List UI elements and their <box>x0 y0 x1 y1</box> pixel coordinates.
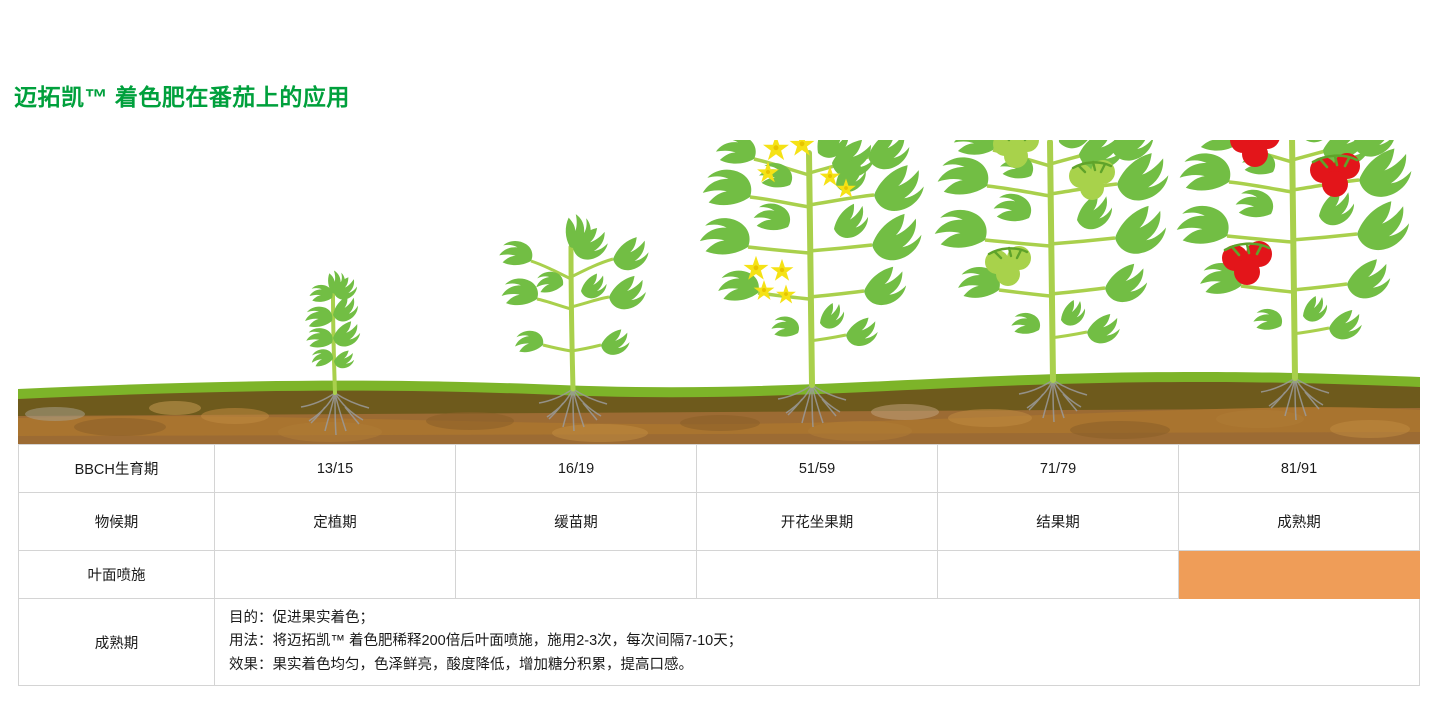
growth-stage-table: BBCH生育期 13/15 16/19 51/59 71/79 81/91 物候… <box>18 444 1420 686</box>
desc-usage: 用法：将迈拓凯™ 着色肥稀释200倍后叶面喷施，施用2-3次，每次间隔7-10天… <box>229 630 1419 653</box>
row-label-foliar-spray: 叶面喷施 <box>19 551 215 599</box>
page-root: 迈拓凯™ 着色肥在番茄上的应用 <box>0 0 1440 722</box>
cell-pheno-1: 定植期 <box>215 493 456 551</box>
usage-description: 目的：促进果实着色； 用法：将迈拓凯™ 着色肥稀释200倍后叶面喷施，施用2-3… <box>215 599 1420 686</box>
cell-spray-3 <box>697 551 938 599</box>
fruit-cluster-red-mid <box>1310 153 1360 197</box>
cell-bbch-2: 16/19 <box>456 445 697 493</box>
growth-stage-illustration <box>0 140 1440 445</box>
page-title: 迈拓凯™ 着色肥在番茄上的应用 <box>14 78 350 112</box>
cell-spray-2 <box>456 551 697 599</box>
row-label-phenology: 物候期 <box>19 493 215 551</box>
desc-effect: 效果：果实着色均匀，色泽鲜亮，酸度降低，增加糖分积累，提高口感。 <box>229 654 1419 677</box>
table-row-description: 成熟期 目的：促进果实着色； 用法：将迈拓凯™ 着色肥稀释200倍后叶面喷施，施… <box>19 599 1420 686</box>
cell-spray-4 <box>938 551 1179 599</box>
cell-pheno-5: 成熟期 <box>1179 493 1420 551</box>
cell-spray-1 <box>215 551 456 599</box>
cell-pheno-4: 结果期 <box>938 493 1179 551</box>
soil-ground <box>18 372 1420 445</box>
desc-purpose: 目的：促进果实着色； <box>229 607 1419 630</box>
cell-pheno-3: 开花坐果期 <box>697 493 938 551</box>
table-row-bbch: BBCH生育期 13/15 16/19 51/59 71/79 81/91 <box>19 445 1420 493</box>
fruit-cluster-green-top <box>993 140 1039 168</box>
cell-bbch-3: 51/59 <box>697 445 938 493</box>
row-label-maturity: 成熟期 <box>19 599 215 686</box>
cell-bbch-1: 13/15 <box>215 445 456 493</box>
row-label-bbch: BBCH生育期 <box>19 445 215 493</box>
cell-bbch-5: 81/91 <box>1179 445 1420 493</box>
cell-bbch-4: 71/79 <box>938 445 1179 493</box>
table-row-phenology: 物候期 定植期 缓苗期 开花坐果期 结果期 成熟期 <box>19 493 1420 551</box>
cell-pheno-2: 缓苗期 <box>456 493 697 551</box>
spray-window-highlight <box>1179 551 1420 599</box>
table-row-foliar-spray: 叶面喷施 <box>19 551 1420 599</box>
